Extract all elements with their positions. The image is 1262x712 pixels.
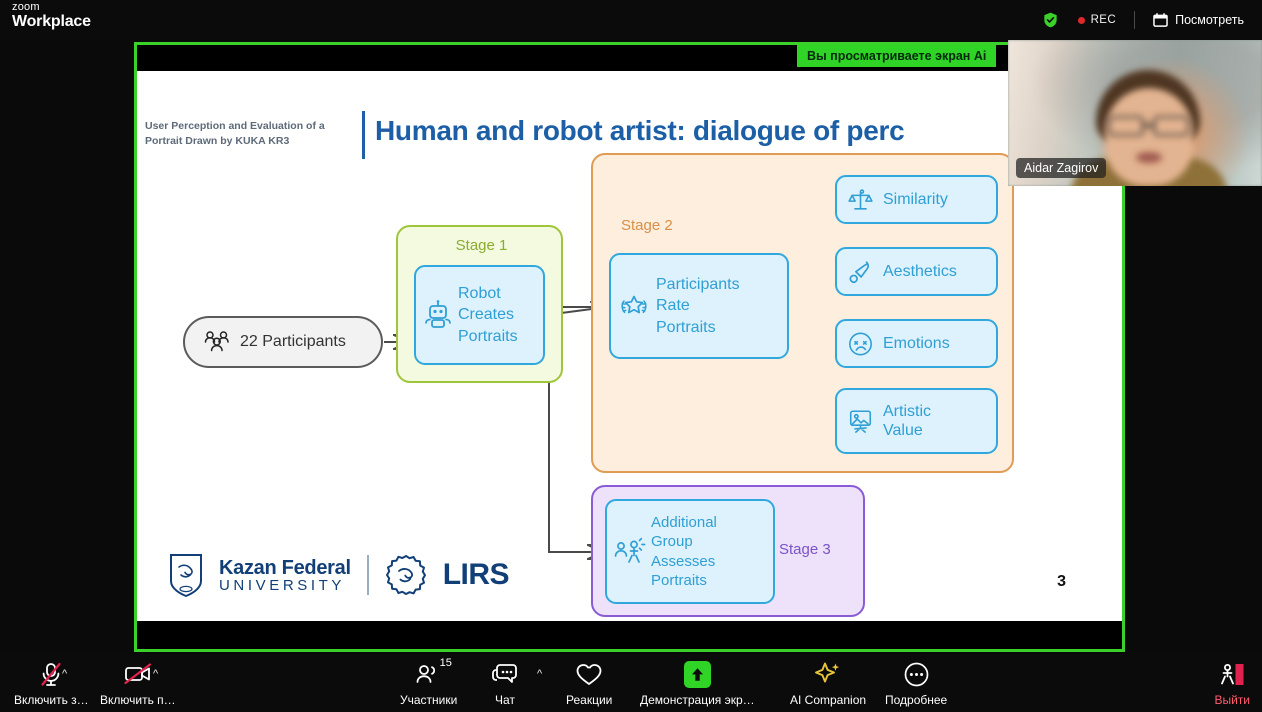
video-person-glasses-left (1108, 116, 1144, 136)
sparkle-icon (814, 661, 842, 687)
metric-aesthetics-label: Aesthetics (883, 262, 957, 281)
lirs-wordmark: LIRS (443, 558, 509, 592)
self-video-tile[interactable]: Aidar Zagirov (1008, 40, 1262, 186)
leave-door-icon (1218, 662, 1246, 687)
view-label: Посмотреть (1175, 13, 1244, 27)
kfu-line-1: Kazan Federal (219, 558, 351, 578)
video-person-face (1105, 88, 1193, 186)
toolbar-leave-label: Выйти (1214, 693, 1250, 707)
recording-indicator[interactable]: REC (1068, 0, 1126, 40)
toolbar-reactions-label: Реакции (566, 693, 612, 707)
node-participants: 22 Participants (183, 316, 383, 368)
toolbar-camera-label: Включить п… (100, 693, 176, 707)
node-robot-label: Robot Creates Portraits (458, 283, 518, 347)
presentation-slide: User Perception and Evaluation of a Port… (137, 71, 1122, 621)
record-dot-icon (1078, 17, 1085, 24)
stage-1-label: Stage 1 (398, 237, 565, 254)
heart-icon (576, 663, 602, 686)
encryption-shield-button[interactable] (1033, 0, 1068, 40)
node-rate-label: Participants Rate Portraits (656, 274, 740, 338)
toolbar-more-button[interactable]: Подробнее (885, 661, 947, 707)
metric-aesthetics: Aesthetics (835, 247, 998, 296)
shared-screen-frame: Вы просматриваете экран Ai User Percepti… (134, 42, 1125, 652)
robot-icon (422, 299, 454, 331)
video-person-mouth (1136, 152, 1162, 163)
meeting-toolbar: Включить з… ^ Включить п… ^ (0, 654, 1262, 712)
top-right-controls: REC Посмотреть (1033, 0, 1254, 40)
logo-divider (367, 555, 369, 595)
kfu-line-2: UNIVERSITY (219, 578, 351, 593)
metric-similarity-label: Similarity (883, 190, 948, 209)
toolbar-camera-options-caret[interactable]: ^ (153, 661, 158, 707)
node-robot-creates-portraits: Robot Creates Portraits (414, 265, 545, 365)
zoom-workplace-logo: zoom Workplace (12, 2, 91, 30)
participants-count-badge: 15 (440, 657, 452, 669)
lirs-gear-logo-icon (385, 554, 427, 596)
people-group-icon (203, 329, 231, 355)
metric-emotions-label: Emotions (883, 334, 950, 353)
toolbar-participants-label: Участники (400, 693, 457, 707)
stage-3-label: Stage 3 (779, 541, 831, 558)
toolbar-leave-button[interactable]: Выйти (1214, 661, 1250, 707)
toolbar-chat-label: Чат (495, 693, 515, 707)
toolbar-camera-button[interactable]: Включить п… (100, 661, 176, 707)
toolbar-share-screen-button[interactable]: Демонстрация экр… (640, 661, 755, 707)
toolbar-mic-label: Включить з… (14, 693, 89, 707)
laurel-star-icon (617, 290, 651, 322)
brand-workplace: Workplace (12, 14, 91, 31)
picture-frame-icon (847, 408, 874, 434)
node-additional-group-assesses: Additional Group Assesses Portraits (605, 499, 775, 604)
top-bar: zoom Workplace REC Посмотреть (0, 0, 1262, 40)
toolbar-more-label: Подробнее (885, 693, 947, 707)
metric-artistic-value: Artistic Value (835, 388, 998, 454)
group-assess-icon (613, 536, 647, 568)
scales-icon (847, 187, 874, 213)
ellipsis-icon (904, 662, 929, 687)
stage-2-label: Stage 2 (621, 217, 673, 234)
paintbrush-icon (847, 259, 874, 285)
kfu-shield-logo-icon (169, 553, 203, 597)
kfu-wordmark: Kazan Federal UNIVERSITY (219, 558, 351, 593)
sad-face-icon (847, 331, 874, 357)
workflow-diagram: Stage 2 Stage 3 Stage 1 22 Part (137, 71, 1122, 621)
toolbar-chat-options-caret[interactable]: ^ (537, 661, 542, 707)
toolbar-ai-label: AI Companion (790, 693, 866, 707)
toolbar-mic-options-caret[interactable]: ^ (62, 661, 67, 707)
node-addgroup-label: Additional Group Assesses Portraits (651, 513, 717, 591)
slide-logos: Kazan Federal UNIVERSITY LIRS (169, 553, 509, 597)
calendar-icon (1153, 13, 1168, 27)
toolbar-reactions-button[interactable]: Реакции (566, 661, 612, 707)
toolbar-mic-button[interactable]: Включить з… (14, 661, 89, 707)
toolbar-ai-companion-button[interactable]: AI Companion (790, 661, 866, 707)
toolbar-share-label: Демонстрация экр… (640, 693, 755, 707)
participants-icon (416, 663, 442, 685)
share-screen-icon (684, 661, 711, 688)
microphone-muted-icon (40, 662, 62, 687)
chat-bubble-icon (492, 663, 518, 686)
rec-label: REC (1091, 14, 1116, 26)
toolbar-chat-button[interactable]: Чат (492, 661, 518, 707)
video-person-glasses-right (1153, 116, 1189, 136)
node-participants-label: 22 Participants (240, 333, 346, 351)
toolbar-participants-button[interactable]: 15 Участники (400, 661, 457, 707)
brand-zoom: zoom (12, 2, 91, 14)
metric-similarity: Similarity (835, 175, 998, 224)
view-button[interactable]: Посмотреть (1143, 0, 1254, 40)
screen-share-banner: Вы просматриваете экран Ai (797, 45, 996, 67)
metric-artistic-label: Artistic Value (883, 402, 931, 440)
video-person-glasses-bridge (1143, 124, 1154, 127)
node-participants-rate-portraits: Participants Rate Portraits (609, 253, 789, 359)
divider (1134, 11, 1135, 29)
shield-check-icon (1043, 12, 1058, 28)
metric-emotions: Emotions (835, 319, 998, 368)
video-participant-name: Aidar Zagirov (1016, 158, 1106, 178)
camera-muted-icon (124, 663, 152, 685)
